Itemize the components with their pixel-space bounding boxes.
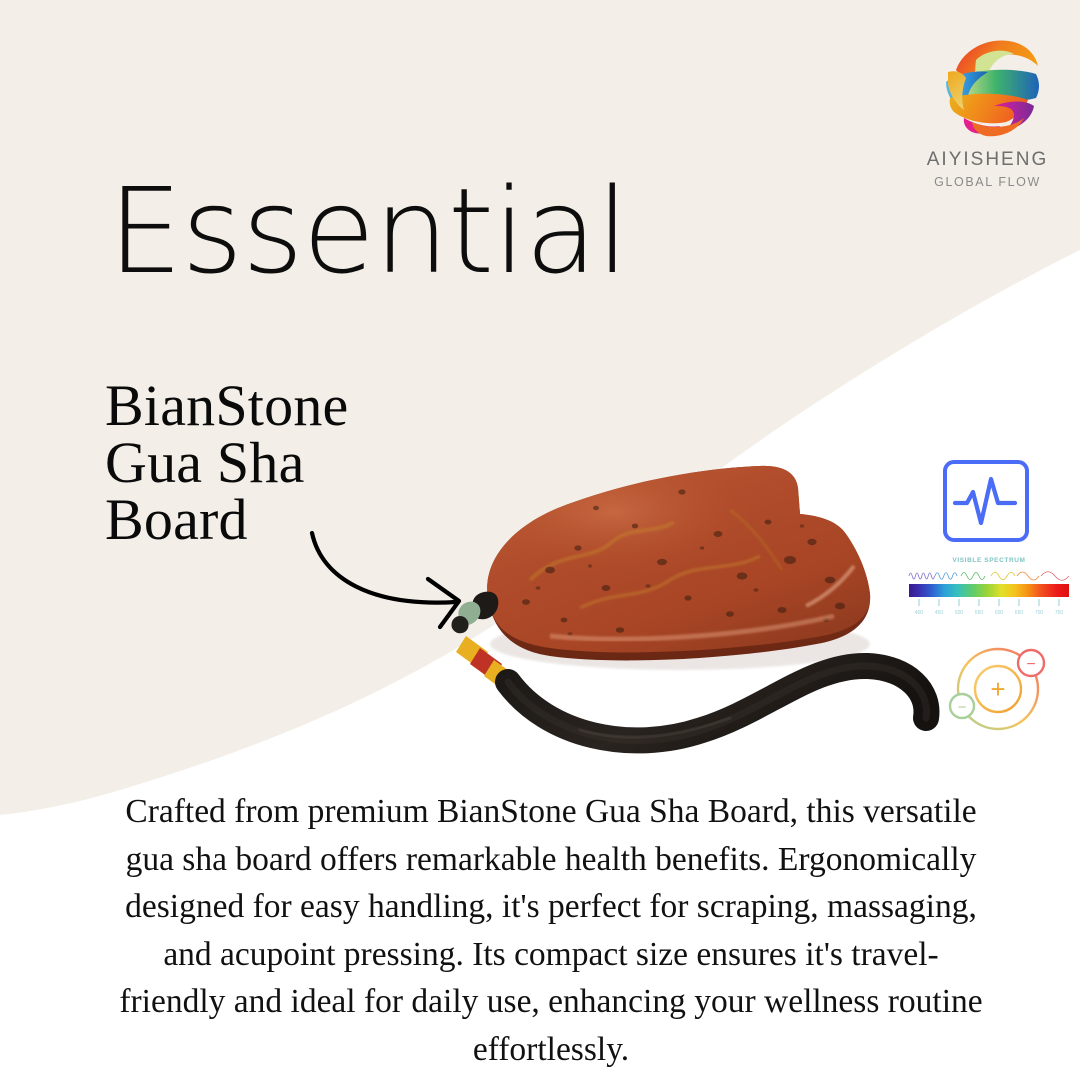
pulse-waveform-icon	[941, 459, 1031, 543]
svg-text:600: 600	[995, 610, 1004, 616]
product-photo	[430, 430, 950, 770]
poster-canvas: AIYISHENG GLOBAL FLOW Essential BianSton…	[0, 0, 1080, 1080]
spectrum-label: VISIBLE SPECTRUM	[905, 558, 1073, 565]
svg-text:650: 650	[1015, 610, 1024, 616]
svg-text:400: 400	[915, 610, 924, 616]
svg-text:−: −	[958, 699, 967, 716]
spectrum-color-bar	[909, 584, 1069, 597]
spectrum-tick-axis: 400450 500550 600650 700750	[905, 597, 1073, 621]
svg-text:450: 450	[935, 610, 944, 616]
product-description: Crafted from premium BianStone Gua Sha B…	[118, 788, 984, 1073]
spectrum-waveform	[905, 566, 1073, 582]
svg-text:−: −	[1026, 656, 1035, 673]
svg-text:750: 750	[1055, 610, 1064, 616]
atom-diagram-icon: + − −	[930, 636, 1070, 742]
product-title-line-1: BianStone	[105, 378, 348, 435]
page-title: Essential	[108, 172, 628, 290]
brand-name: AIYISHENG	[905, 150, 1070, 169]
visible-spectrum-icon: VISIBLE SPECTRUM 400450 500550 600650 70…	[905, 558, 1073, 626]
svg-text:550: 550	[975, 610, 984, 616]
brand-logo: AIYISHENG GLOBAL FLOW	[905, 26, 1070, 189]
globe-swirl-logo-icon	[928, 26, 1048, 146]
svg-text:+: +	[990, 674, 1005, 704]
svg-text:700: 700	[1035, 610, 1044, 616]
svg-text:500: 500	[955, 610, 964, 616]
brand-tagline: GLOBAL FLOW	[905, 176, 1070, 189]
product-title-line-2: Gua Sha	[105, 435, 348, 492]
